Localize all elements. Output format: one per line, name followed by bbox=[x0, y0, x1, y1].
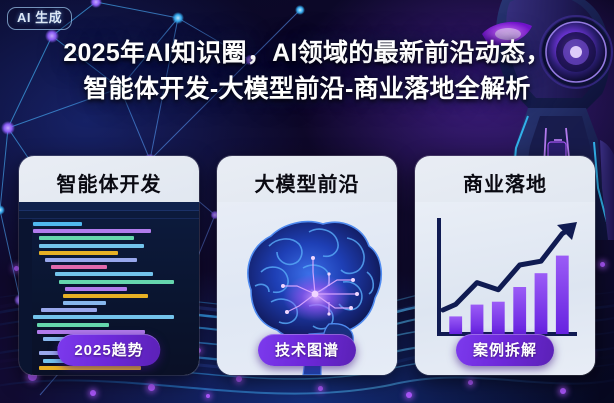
headline-line-2: 智能体开发-大模型前沿-商业落地全解析 bbox=[0, 72, 614, 108]
card-badge[interactable]: 技术图谱 bbox=[258, 334, 356, 366]
page-title: 2025年AI知识圈，AI领域的最新前沿动态， 智能体开发-大模型前沿-商业落地… bbox=[0, 36, 614, 107]
chart-bar bbox=[556, 256, 569, 334]
feature-card-row: 智能体开发 bbox=[0, 156, 614, 375]
card-title: 大模型前沿 bbox=[255, 168, 360, 197]
feature-card-agent-development[interactable]: 智能体开发 bbox=[19, 156, 199, 375]
card-badge[interactable]: 2025趋势 bbox=[57, 334, 160, 366]
ai-generated-badge: AI 生成 bbox=[7, 7, 72, 30]
feature-card-large-model-frontier[interactable]: 大模型前沿 bbox=[217, 156, 397, 375]
chart-bar bbox=[535, 273, 548, 334]
chart-bar bbox=[471, 305, 484, 334]
chart-bar bbox=[492, 302, 505, 334]
chart-bar bbox=[449, 316, 462, 334]
headline-line-1: 2025年AI知识圈，AI领域的最新前沿动态， bbox=[0, 36, 614, 72]
chart-bar bbox=[513, 287, 526, 334]
feature-card-business-landing[interactable]: 商业落地 bbox=[415, 156, 595, 375]
card-title: 商业落地 bbox=[463, 168, 547, 197]
card-title: 智能体开发 bbox=[57, 168, 162, 197]
ai-knowledge-poster: AI 生成 2025年AI知识圈，AI领域的最新前沿动态， 智能体开发-大模型前… bbox=[0, 0, 614, 403]
card-badge[interactable]: 案例拆解 bbox=[456, 334, 554, 366]
chart-trendline bbox=[443, 229, 570, 310]
